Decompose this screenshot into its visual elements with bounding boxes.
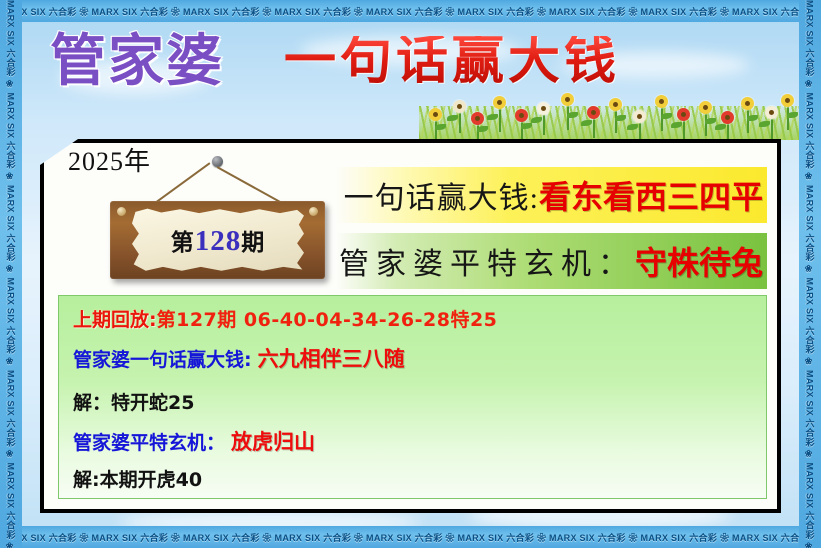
xuanji-label: 管家婆平特玄机：	[73, 428, 225, 455]
phrase-label: 管家婆一句话赢大钱:	[73, 345, 252, 372]
border-strip-top: MARX SIX 六合彩 ❀ MARX SIX 六合彩 ❀ MARX SIX 六…	[0, 0, 821, 22]
border-strip-bottom: MARX SIX 六合彩 ❀ MARX SIX 六合彩 ❀ MARX SIX 六…	[0, 526, 821, 548]
replay-value: 第127期 06-40-04-34-26-28特25	[157, 305, 498, 332]
border-strip-right: MARX SIX 六合彩 ❀ MARX SIX 六合彩 ❀ MARX SIX 六…	[799, 0, 821, 548]
replay-label: 上期回放:	[73, 305, 157, 332]
page-header: 管家婆 一句话赢大钱	[22, 22, 799, 137]
rope-left	[154, 162, 210, 204]
screw-icon	[309, 207, 318, 216]
band-yellow-value: 看东看西三四平	[539, 172, 763, 218]
poster-root: MARX SIX 六合彩 ❀ MARX SIX 六合彩 ❀ MARX SIX 六…	[0, 0, 821, 548]
screw-icon	[117, 207, 126, 216]
issue-number: 128	[195, 225, 242, 257]
band-phrase-of-period: 一句话赢大钱: 看东看西三四平	[336, 167, 767, 223]
explanation-1-text: 解：特开蛇25	[73, 388, 194, 415]
sign-board: 第128期	[110, 201, 325, 279]
phrase-value: 六九相伴三八随	[258, 343, 405, 373]
main-card: 第128期 一句话赢大钱: 看东看西三四平 管家婆平特玄机： 守株待兔 上期回放…	[40, 139, 781, 513]
info-panel: 上期回放: 第127期 06-40-04-34-26-28特25 管家婆一句话赢…	[58, 295, 767, 499]
band-yellow-label: 一句话赢大钱:	[344, 173, 539, 217]
row-last-period-replay: 上期回放: 第127期 06-40-04-34-26-28特25	[73, 305, 766, 332]
row-explanation-2: 解:本期开虎40	[73, 465, 766, 492]
border-text: MARX SIX 六合彩 ❀ MARX SIX 六合彩 ❀ MARX SIX 六…	[0, 5, 821, 18]
border-text: MARX SIX 六合彩 ❀ MARX SIX 六合彩 ❀ MARX SIX 六…	[804, 0, 817, 548]
row-xuanji: 管家婆平特玄机： 放虎归山	[73, 426, 766, 456]
explanation-2-text: 解:本期开虎40	[73, 465, 202, 492]
slogan-title: 一句话赢大钱	[284, 36, 620, 88]
row-phrase: 管家婆一句话赢大钱: 六九相伴三八随	[73, 343, 766, 373]
brand-title: 管家婆	[50, 34, 224, 90]
row-explanation-1: 解：特开蛇25	[73, 388, 766, 415]
border-text: MARX SIX 六合彩 ❀ MARX SIX 六合彩 ❀ MARX SIX 六…	[5, 0, 18, 548]
band-pingte-xuanji: 管家婆平特玄机： 守株待兔	[336, 233, 767, 289]
band-green-value: 守株待兔	[635, 238, 763, 284]
rope-right	[217, 166, 283, 204]
band-green-label: 管家婆平特玄机：	[339, 239, 635, 283]
border-strip-left: MARX SIX 六合彩 ❀ MARX SIX 六合彩 ❀ MARX SIX 六…	[0, 0, 22, 548]
border-text: MARX SIX 六合彩 ❀ MARX SIX 六合彩 ❀ MARX SIX 六…	[0, 531, 821, 544]
xuanji-value: 放虎归山	[231, 426, 315, 456]
sign-paper: 第128期	[132, 208, 304, 272]
issue-number-text: 第128期	[171, 223, 266, 258]
year-label: 2025年	[68, 141, 151, 178]
